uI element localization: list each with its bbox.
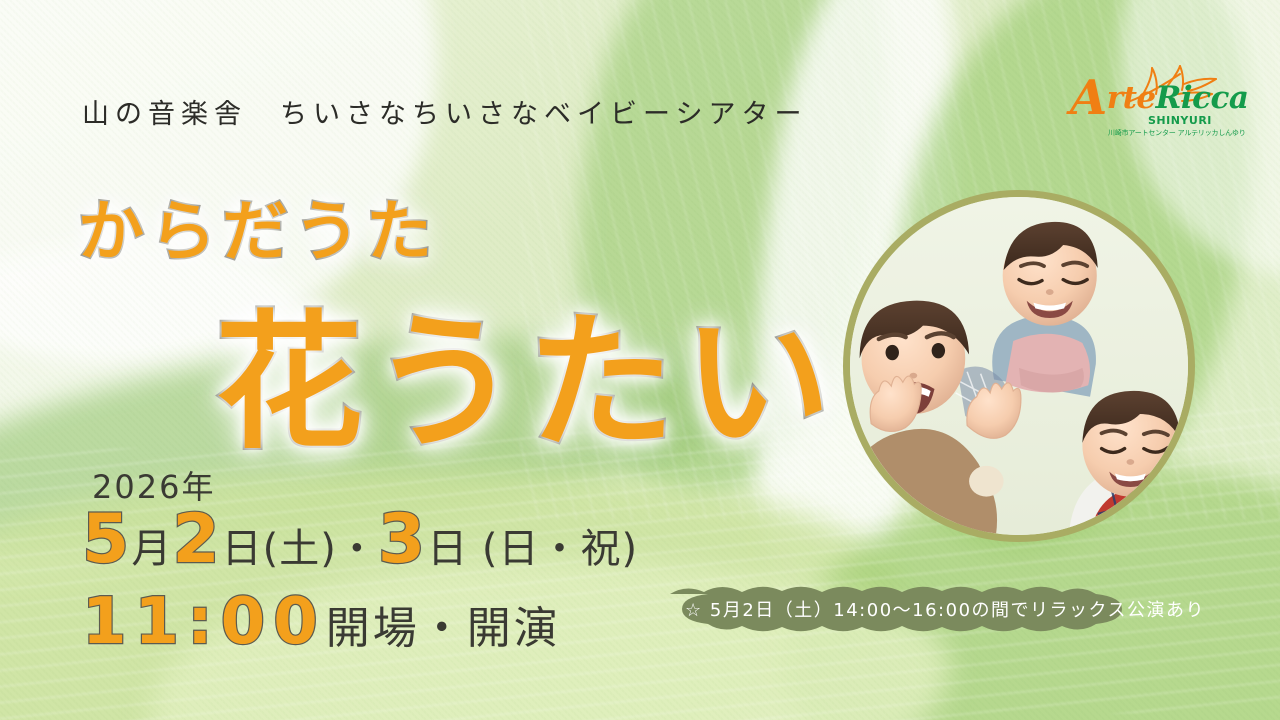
babies-photo — [843, 190, 1195, 542]
date-separator: ・ — [337, 526, 378, 572]
arte-ricca-logo: ArteRicca SHINYURI 川崎市アートセンター アルテリッカしんゆり — [1070, 62, 1230, 152]
logo-subtitle: SHINYURI — [1148, 114, 1212, 127]
page-title: 花うたい — [215, 262, 839, 477]
header-tagline: 山の音楽舎 ちいさなちいさなベイビーシアター — [82, 92, 807, 131]
date-month-number: 5 — [82, 500, 131, 579]
title-subtitle: からだうた — [78, 178, 438, 274]
time-value: 11:00 — [82, 585, 326, 659]
date-day2-number: 3 — [378, 500, 427, 579]
logo-rte: rte — [1107, 80, 1156, 116]
photo-illustration — [850, 197, 1188, 535]
logo-wordmark: ArteRicca — [1070, 80, 1230, 116]
time-label: 開場・開演 — [326, 603, 561, 654]
logo-letter-r: R — [1156, 80, 1181, 116]
event-date: 5月2日(土)・3日 (日・祝) — [82, 500, 638, 579]
logo-letter-a: A — [1070, 70, 1107, 126]
date-day2-label: 日 (日・祝) — [427, 526, 638, 572]
date-day1-number: 2 — [172, 500, 221, 579]
date-day1-label: 日(土) — [222, 526, 337, 572]
relax-note-text: ☆ 5月2日（土）14:00〜16:00の間でリラックス公演あり — [648, 586, 1242, 632]
poster-canvas: ArteRicca SHINYURI 川崎市アートセンター アルテリッカしんゆり… — [0, 0, 1280, 720]
logo-icca: icca — [1181, 80, 1249, 116]
event-time: 11:00開場・開演 — [82, 585, 561, 659]
logo-japanese-caption: 川崎市アートセンター アルテリッカしんゆり — [1108, 128, 1246, 138]
relax-performance-banner: ☆ 5月2日（土）14:00〜16:00の間でリラックス公演あり — [648, 586, 1242, 632]
date-month-kanji: 月 — [131, 526, 172, 572]
